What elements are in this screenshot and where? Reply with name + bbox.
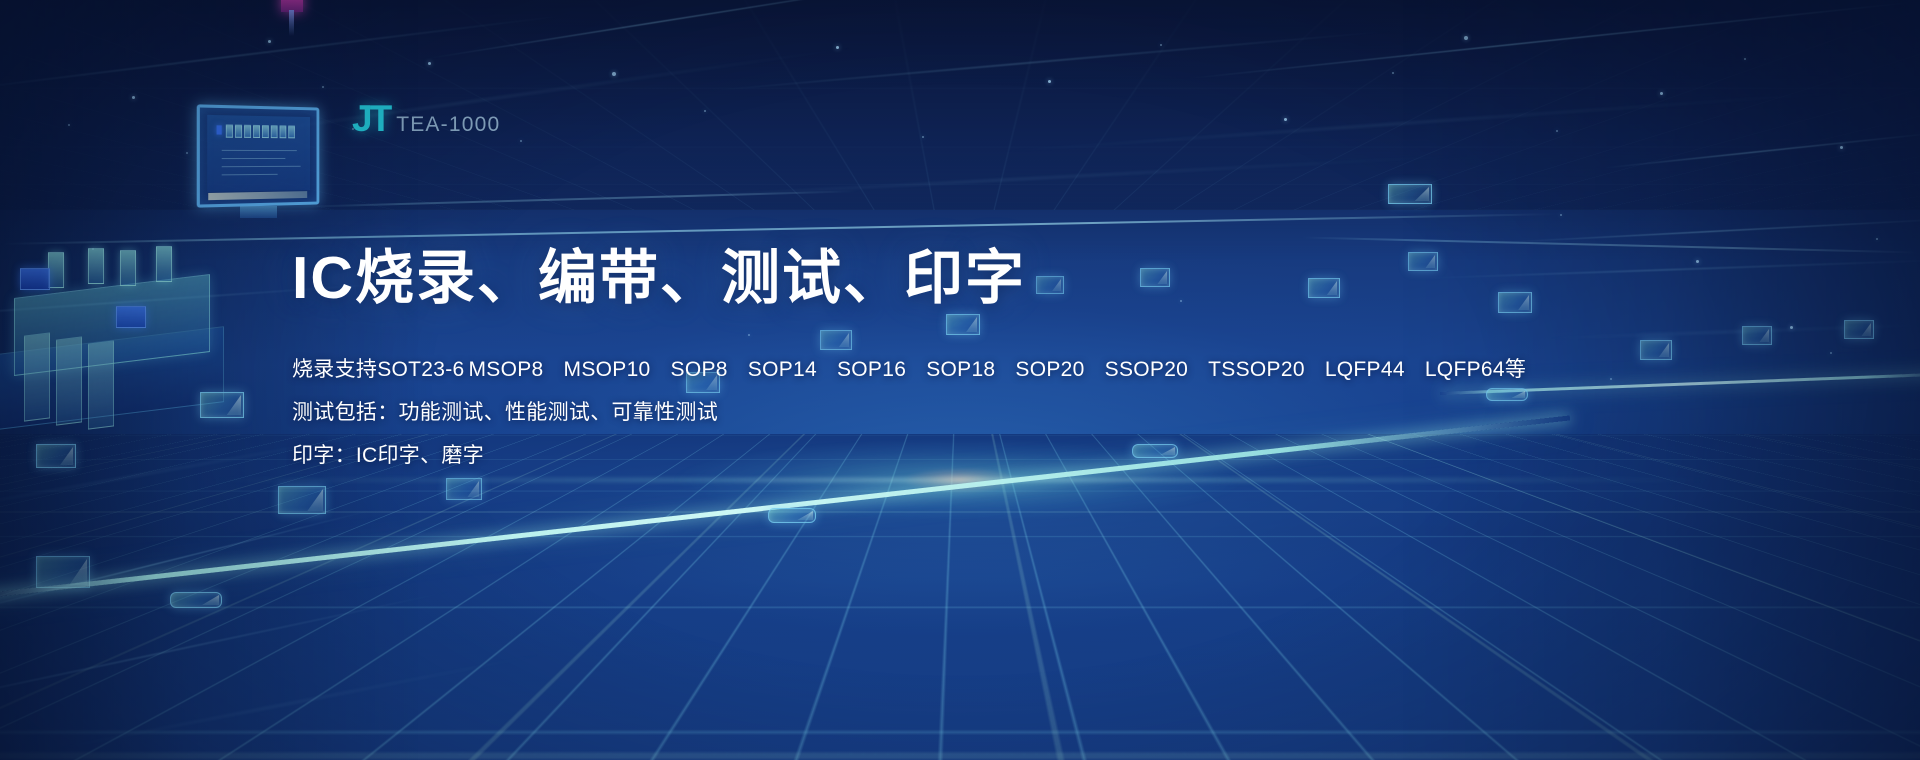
machine-head [156,246,172,282]
floating-chip-icon [1844,320,1874,339]
light-streak [701,29,1399,92]
package-label: MSOP10 [564,359,651,380]
burn-support-lead: 烧录支持SOT23-6 [292,359,465,380]
light-streak [1540,323,1920,340]
monitor-screen [207,115,310,192]
light-streak [1601,132,1920,169]
monitor-cell [288,125,295,138]
machine-module [20,268,50,290]
particle-dot [68,124,70,126]
package-label: LQFP44 [1325,359,1405,380]
monitor-line [222,150,297,151]
rail-carriage [768,508,816,523]
particle-dot [704,110,706,112]
package-label: SOP18 [926,359,995,380]
page-title: IC烧录、编带、测试、印字 [292,246,1526,311]
package-label: MSOP8 [469,359,544,380]
particle-dot [520,140,522,142]
particle-dot [132,96,135,99]
monitor-cell [226,124,233,137]
monitor-cell [271,125,278,138]
floating-chip-icon [36,556,90,588]
particle-dot [92,248,94,250]
monitor-display [198,106,322,206]
particle-dot [1610,378,1612,380]
particle-dot [1790,326,1793,329]
light-streak [981,89,1879,155]
floating-chip-icon [1388,184,1432,204]
monitor-cell [244,125,251,138]
magenta-accent-stem [289,10,294,36]
particle-dot [322,86,324,88]
particle-dot [836,46,839,49]
ceiling-grid-layer [0,0,1920,210]
gantry-rail [300,190,860,208]
particle-dot [1744,58,1746,60]
ceiling-fade [0,0,1920,210]
particle-dot [1048,80,1051,83]
particle-dot [1830,352,1832,354]
particle-dot [1560,214,1562,216]
machine-silhouette [0,228,240,428]
particle-dot [1840,146,1843,149]
monitor-bottom-strip [208,191,307,200]
floating-chip-icon [200,392,244,418]
package-label: TSSOP20 [1208,359,1305,380]
floating-chip-icon [1742,326,1772,345]
monitor-cell [262,125,269,138]
hero-banner: JT TEA-1000 IC烧录、编带、测试、印字 烧录支持SOT23-6 MS… [0,0,1920,760]
particle-dot [428,62,431,65]
monitor-line [222,174,278,176]
rail-carriage [170,592,222,608]
monitor-cell [253,125,260,138]
magenta-accent-chip [281,0,303,12]
package-label: SOP14 [748,359,817,380]
light-streak [1500,218,1920,243]
feature-lines: 烧录支持SOT23-6 MSOP8 MSOP10 SOP8 SOP14 SOP1… [292,359,1526,466]
machine-head [48,252,64,288]
light-streak [1182,1,1918,79]
particle-dot [186,152,188,154]
machine-module [116,306,146,328]
particle-dot [268,40,271,43]
package-label: SOP20 [1015,359,1084,380]
package-label: SSOP20 [1105,359,1189,380]
machine-rib [56,336,82,425]
light-streak [423,0,937,60]
particle-dot [922,136,924,138]
particle-dot [1392,72,1394,74]
particle-dot [1696,260,1699,263]
monitor-stand [240,206,277,218]
machine-head [120,250,136,286]
light-streak [0,13,578,93]
monitor-line [222,158,286,159]
floating-chip-icon [278,486,326,514]
particle-dot [1556,130,1558,132]
floating-chip-icon [36,444,76,468]
particle-dot [352,128,354,130]
light-streak [44,650,555,752]
jt-logo: JT [352,100,389,137]
monitor-cell [235,125,242,138]
gantry-rail [0,213,1560,245]
machine-model-label: TEA-1000 [396,114,500,135]
particle-dot [1160,44,1162,46]
monitor-cell [280,125,287,138]
particle-dot [1876,238,1878,240]
light-streak [0,590,454,708]
light-streak [123,43,876,152]
package-label: SOP16 [837,359,906,380]
machine-base [0,326,224,430]
monitor-frame [197,104,320,207]
particle-dot [1284,118,1287,121]
particle-dot [1464,36,1468,40]
light-streak [601,152,1500,202]
machine-rib [24,332,50,421]
hero-content: IC烧录、编带、测试、印字 烧录支持SOT23-6 MSOP8 MSOP10 S… [292,246,1526,488]
package-label: LQFP64等 [1425,359,1526,380]
machine-body [14,274,210,376]
marking-line: 印字：IC印字、磨字 [292,445,1526,466]
brand-lockup: JT TEA-1000 [352,100,500,137]
machine-head [88,248,104,284]
light-streak [0,509,374,612]
package-label: SOP8 [671,359,728,380]
monitor-line [222,166,301,167]
top-gradient-wash [0,0,1920,260]
particle-dot [612,72,616,76]
floating-chip-icon [1640,340,1672,360]
burn-support-line: 烧录支持SOT23-6 MSOP8 MSOP10 SOP8 SOP14 SOP1… [292,359,1526,380]
monitor-indicator [217,125,222,134]
particle-dot [1660,92,1663,95]
monitor-cell-row [226,124,295,138]
test-scope-line: 测试包括：功能测试、性能测试、可靠性测试 [292,402,1526,423]
machine-rib [88,340,114,429]
